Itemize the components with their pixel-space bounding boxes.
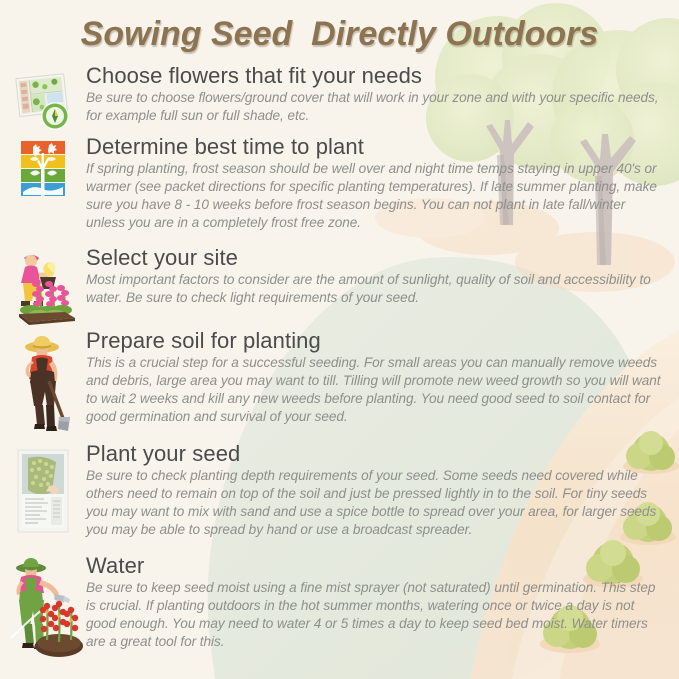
step-heading: Determine best time to plant xyxy=(86,135,665,159)
step-icon-slot xyxy=(0,64,86,132)
step-icon-slot xyxy=(0,442,86,534)
step-text: Prepare soil for planting This is a cruc… xyxy=(86,329,679,426)
garden-plan-map-icon xyxy=(13,70,73,132)
step-body: This is a crucial step for a successful … xyxy=(86,354,665,426)
step-text: Water Be sure to keep seed moist using a… xyxy=(86,554,679,651)
step-heading: Water xyxy=(86,554,665,578)
flower-bed-planter-icon xyxy=(7,246,79,326)
gardener-with-shovel-icon xyxy=(12,331,74,435)
step-body: Most important factors to consider are t… xyxy=(86,271,665,307)
step-icon-slot xyxy=(0,135,86,201)
step-body: Be sure to choose flowers/ground cover t… xyxy=(86,89,665,125)
four-seasons-icon xyxy=(15,139,71,201)
step-icon-slot xyxy=(0,246,86,326)
step-body: Be sure to check planting depth requirem… xyxy=(86,467,665,539)
step-text: Plant your seed Be sure to check plantin… xyxy=(86,442,679,539)
step-text: Select your site Most important factors … xyxy=(86,246,679,307)
step-item: Choose flowers that fit your needs Be su… xyxy=(0,64,679,135)
infographic-page: Sowing Seed Directly Outdoors xyxy=(0,0,679,679)
gardener-watering-icon xyxy=(3,554,83,658)
seed-packet-icon xyxy=(14,448,72,534)
step-text: Choose flowers that fit your needs Be su… xyxy=(86,64,679,125)
step-icon-slot xyxy=(0,329,86,435)
red-flowers xyxy=(40,601,78,642)
step-icon-slot xyxy=(0,554,86,658)
step-heading: Select your site xyxy=(86,246,665,270)
step-body: If spring planting, frost season should … xyxy=(86,160,665,232)
step-item: Plant your seed Be sure to check plantin… xyxy=(0,442,679,554)
steps-list: Choose flowers that fit your needs Be su… xyxy=(0,64,679,664)
compass-badge xyxy=(41,102,69,130)
step-heading: Prepare soil for planting xyxy=(86,329,665,353)
foxglove-flowers xyxy=(32,281,69,308)
step-item: Water Be sure to keep seed moist using a… xyxy=(0,554,679,664)
step-item: Determine best time to plant If spring p… xyxy=(0,135,679,246)
step-heading: Plant your seed xyxy=(86,442,665,466)
step-body: Be sure to keep seed moist using a fine … xyxy=(86,579,665,651)
page-title: Sowing Seed Directly Outdoors xyxy=(0,15,679,54)
planter-box xyxy=(19,312,75,325)
step-item: Prepare soil for planting This is a cruc… xyxy=(0,329,679,442)
step-text: Determine best time to plant If spring p… xyxy=(86,135,679,232)
step-item: Select your site Most important factors … xyxy=(0,246,679,329)
step-heading: Choose flowers that fit your needs xyxy=(86,64,665,88)
